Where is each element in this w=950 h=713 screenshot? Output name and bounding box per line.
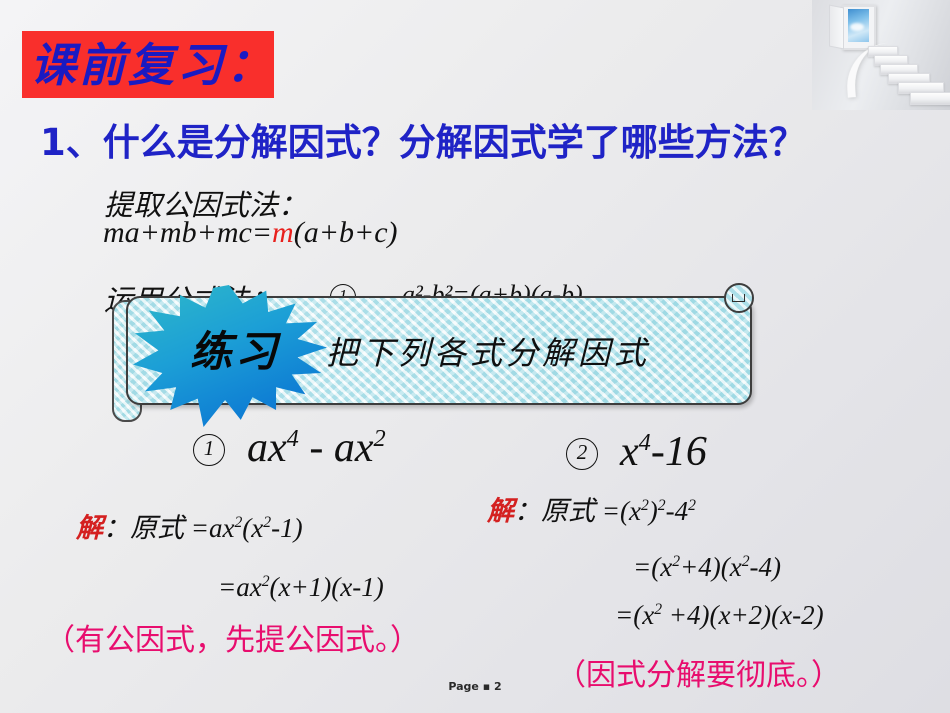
- solution-1-lead: ：原式 =ax: [103, 513, 234, 543]
- solution-2-line2-mid: +4)(x: [680, 552, 742, 582]
- review-question: 1、什么是分解因式？分解因式学了哪些方法？: [40, 112, 806, 166]
- deco-step: [910, 92, 950, 105]
- solution-2-line3-exp: 2: [654, 601, 662, 618]
- formula-suffix: (a+b+c): [294, 216, 398, 249]
- solution-2-line3-head: =(x: [615, 600, 654, 630]
- deco-sky-view: [848, 9, 869, 42]
- solution-2-line2-head: =(x: [633, 552, 672, 582]
- circled-number-2: 2: [566, 438, 598, 470]
- solution-2-line2-tail: -4): [750, 552, 781, 582]
- practice-banner-text: 把下列各式分解因式: [326, 328, 650, 374]
- slide-canvas: 课前复习： 1、什么是分解因式？分解因式学了哪些方法？ 提取公因式法： ma+m…: [0, 0, 950, 713]
- solution-1-line2-tail: (x+1)(x-1): [270, 572, 384, 602]
- exercise-1-term-1: ax: [247, 425, 287, 471]
- page-title: 课前复习：: [30, 30, 310, 100]
- solution-2-line2-exp-2: 2: [742, 553, 750, 570]
- exercise-1-exp-1: 4: [287, 425, 299, 452]
- exercise-1-operator: -: [299, 425, 334, 471]
- solution-1-tail-end: -1): [271, 513, 302, 543]
- solution-2-line-1: 解：原式 =(x2)2-42: [487, 489, 696, 528]
- solution-2-lead: ：原式 =(x: [514, 496, 641, 526]
- solution-2-jie-label: 解: [487, 496, 514, 526]
- exercise-2-term-1: x: [620, 429, 639, 475]
- solution-2-exp-a: 2: [641, 497, 649, 514]
- solution-1-exp-b: 2: [263, 514, 271, 531]
- practice-banner-handle-icon: [724, 283, 754, 313]
- formula-prefix: ma+mb+mc=: [103, 216, 272, 249]
- exercise-1-term-2: ax: [334, 425, 374, 471]
- solution-2-line-3: =(x2 +4)(x+2)(x-2): [615, 600, 824, 631]
- solution-1-line2-exp: 2: [262, 573, 270, 590]
- solution-1-line2-head: =ax: [218, 572, 262, 602]
- solution-2-exp-c: 2: [688, 497, 696, 514]
- exercise-2: 2x4-16: [566, 428, 707, 476]
- solution-2-mid: ): [649, 496, 658, 526]
- solution-2-line-2: =(x2+4)(x2-4): [633, 552, 781, 583]
- practice-label: 练习: [150, 318, 320, 379]
- stairs-to-open-door-with-sky-image: [812, 0, 950, 110]
- solution-1-note: （有公因式，先提公因式。）: [45, 615, 420, 659]
- solution-2-tail: -4: [666, 496, 689, 526]
- exercise-1-exp-2: 2: [374, 425, 386, 452]
- formula-highlight-m: m: [272, 216, 294, 249]
- exercise-2-operator: -16: [651, 429, 707, 475]
- deco-door-panel: [829, 5, 844, 50]
- solution-1-line-2: =ax2(x+1)(x-1): [218, 572, 384, 603]
- solution-2-exp-b: 2: [658, 497, 666, 514]
- solution-2-line2-exp-1: 2: [672, 553, 680, 570]
- exercise-1: 1ax4 - ax2: [193, 424, 386, 472]
- footer-page-number: Page ▪ 2: [0, 680, 950, 693]
- method-common-factor-formula: ma+mb+mc=m(a+b+c): [103, 216, 398, 250]
- solution-1-tail: (x: [242, 513, 263, 543]
- solution-2-line3-tail: +4)(x+2)(x-2): [662, 600, 824, 630]
- solution-1-jie-label: 解: [76, 513, 103, 543]
- circled-number-1: 1: [193, 434, 225, 466]
- exercise-2-exp-1: 4: [639, 429, 651, 456]
- solution-1-line-1: 解：原式 =ax2(x2-1): [76, 506, 303, 545]
